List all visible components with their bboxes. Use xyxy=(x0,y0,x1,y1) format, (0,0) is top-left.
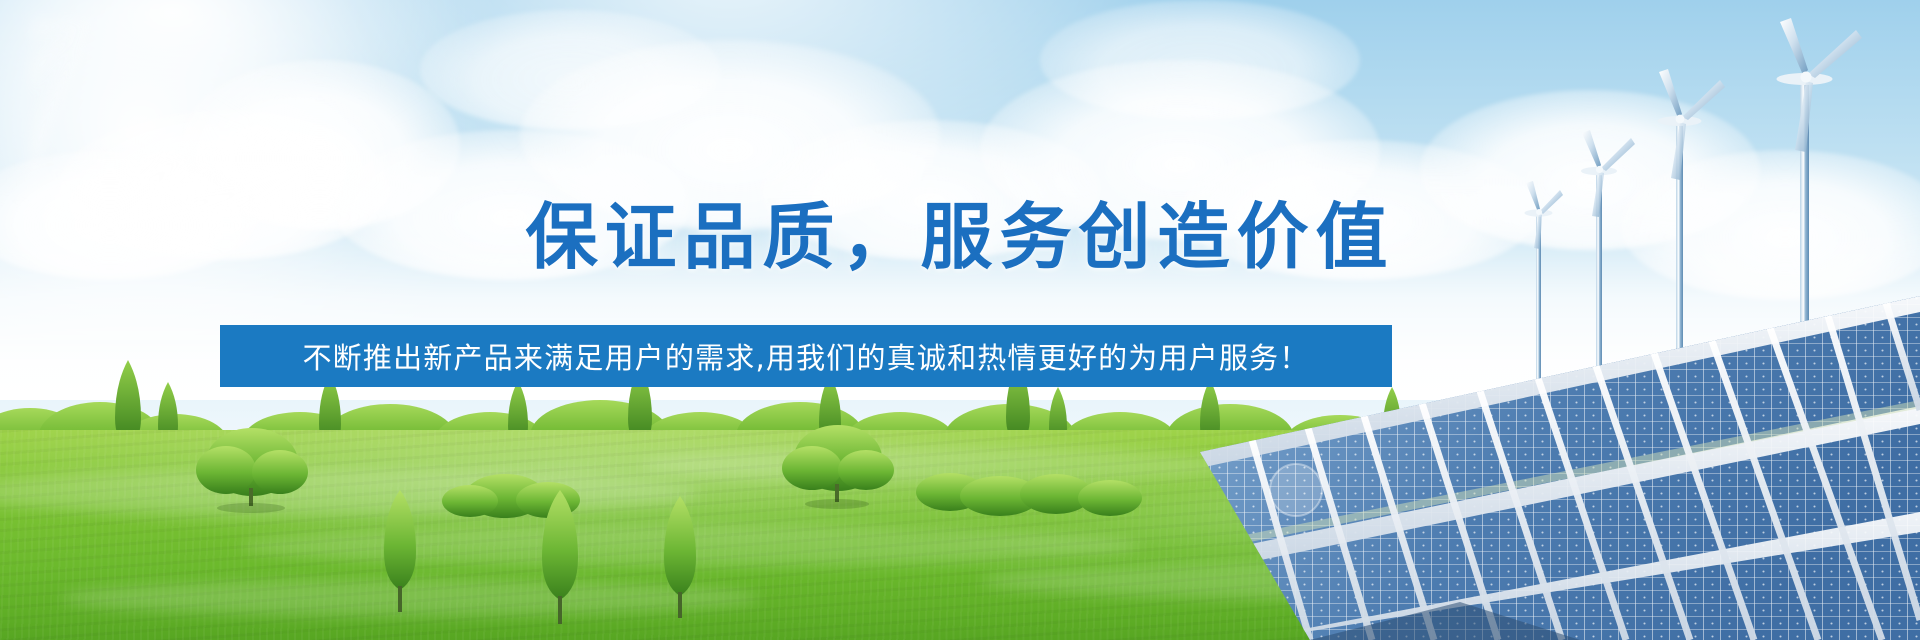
hero-banner: 保证品质，服务创造价值 不断推出新产品来满足用户的需求,用我们的真诚和热情更好的… xyxy=(0,0,1920,640)
grass-field xyxy=(0,430,1920,640)
subtitle-text: 不断推出新产品来满足用户的需求,用我们的真诚和热情更好的为用户服务！ xyxy=(302,335,1309,377)
mow-stripe xyxy=(0,470,700,516)
mow-stripe xyxy=(240,526,1140,566)
mow-stripe xyxy=(640,448,1260,482)
mow-stripe xyxy=(980,562,1800,600)
subtitle-banner: 不断推出新产品来满足用户的需求,用我们的真诚和热情更好的为用户服务！ xyxy=(220,325,1392,387)
page-title: 保证品质，服务创造价值 xyxy=(0,178,1920,283)
grass-texture xyxy=(0,430,1920,640)
mow-stripe xyxy=(60,580,760,616)
